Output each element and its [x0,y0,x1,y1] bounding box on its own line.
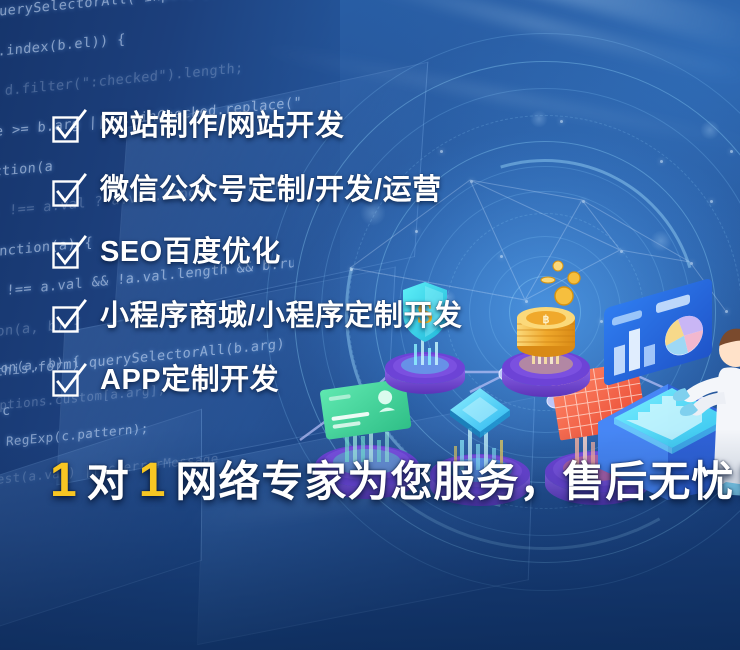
list-item-label: SEO百度优化 [100,226,281,278]
list-item[interactable]: SEO百度优化 [52,226,672,290]
promo-banner: d.querySelectorAll('input[type=checkbox]… [0,0,740,650]
services-checklist: 网站制作/网站开发 微信公众号定制/开发/运营 SEO百度优化 [52,100,672,417]
list-item-label: 微信公众号定制/开发/运营 [100,164,442,216]
checkbox-checked-icon [52,302,79,329]
list-item[interactable]: 小程序商城/小程序定制开发 [52,290,672,354]
network-dot [725,310,728,313]
headline-mid: 对 [87,458,130,505]
list-item-label: 网站制作/网站开发 [100,100,345,152]
headline-tail: 网络专家为您服务，售后无忧！ [175,458,740,505]
network-dot [690,262,693,265]
list-item-label: 小程序商城/小程序定制开发 [100,290,463,342]
list-item[interactable]: 微信公众号定制/开发/运营 [52,164,672,226]
checkbox-checked-icon [52,112,79,139]
headline-number-first: 1 [50,454,78,507]
checkbox-checked-icon [52,238,79,265]
checkbox-checked-icon [52,366,79,393]
network-dot [730,150,733,153]
list-item-label: APP定制开发 [100,354,279,406]
list-item[interactable]: APP定制开发 [52,354,672,417]
headline-number-second: 1 [139,454,167,507]
network-dot [710,200,713,203]
list-item[interactable]: 网站制作/网站开发 [52,100,672,164]
page-title: 1对1网络专家为您服务，售后无忧！ [50,448,740,509]
checkbox-checked-icon [52,176,79,203]
